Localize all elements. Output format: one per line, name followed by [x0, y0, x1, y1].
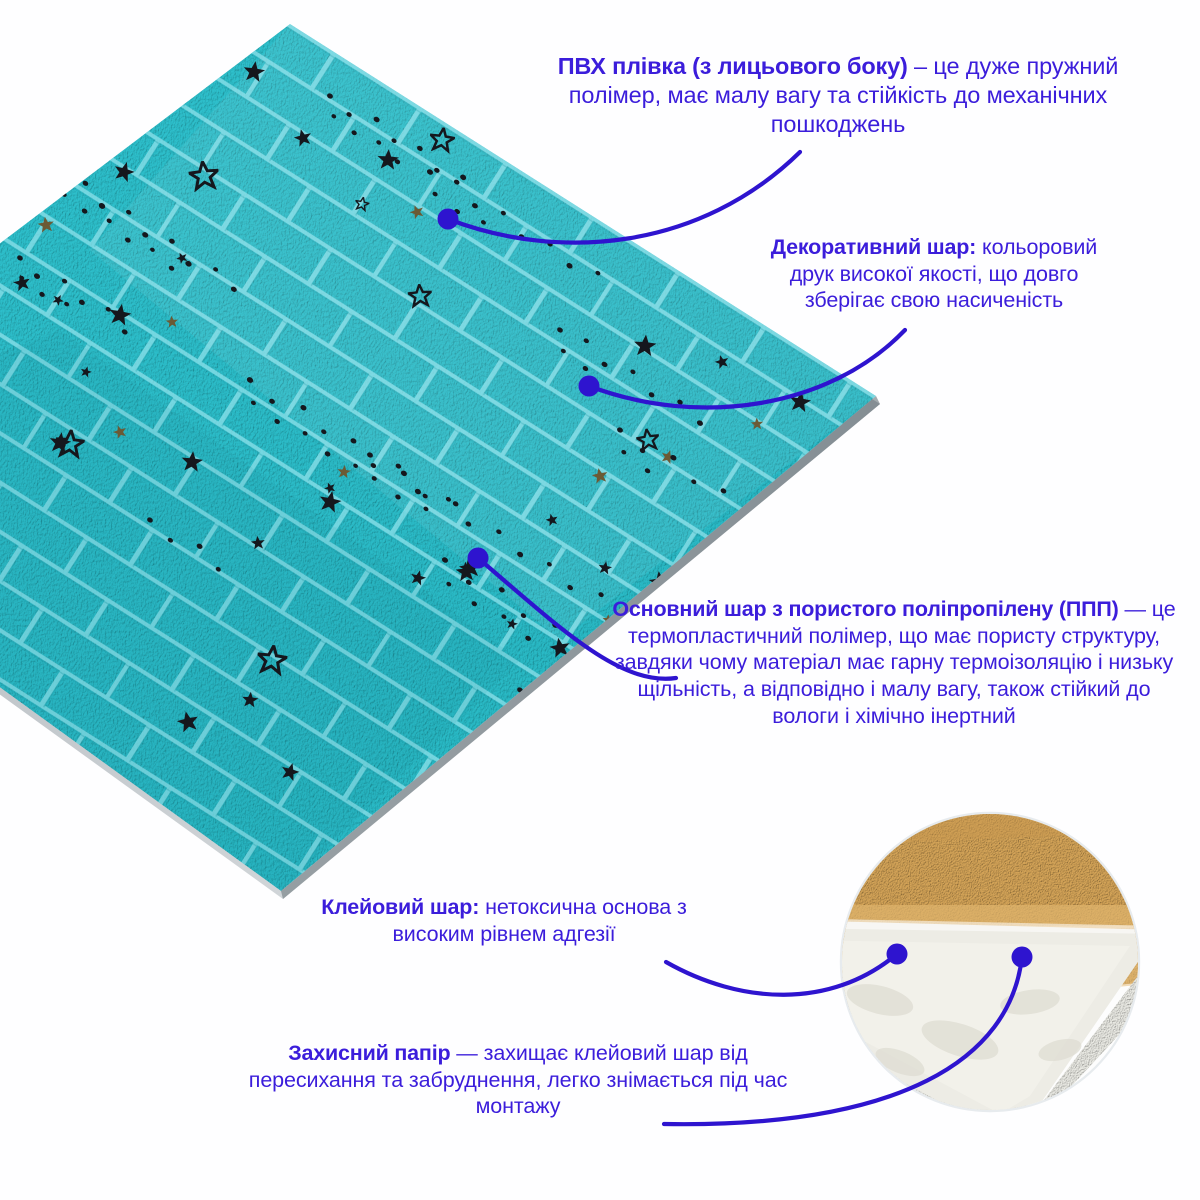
- callout-core-layer: Основний шар з пористого поліпропілену (…: [608, 596, 1180, 729]
- callout-protective-paper-title: Захисний папір: [288, 1041, 450, 1065]
- callout-pvc-film: ПВХ плівка (з лицьового боку) – це дуже …: [556, 52, 1120, 139]
- callout-adhesive-layer: Клейовий шар: нетоксична основа з високи…: [296, 894, 712, 947]
- callout-protective-paper-separator: —: [450, 1041, 483, 1065]
- callout-decorative-layer: Декоративний шар: кольоровий друк високо…: [748, 234, 1120, 314]
- callout-pvc-film-separator: –: [908, 53, 934, 79]
- cross-section-inset: [752, 812, 1170, 1146]
- anchor-dot-pvc-film: [438, 209, 459, 230]
- callout-decorative-layer-title: Декоративний шар:: [771, 235, 976, 259]
- callout-core-layer-separator: —: [1119, 597, 1152, 621]
- callout-core-layer-title: Основний шар з пористого поліпропілену (…: [612, 597, 1118, 621]
- anchor-dot-protective-paper: [1012, 947, 1033, 968]
- infographic-canvas: ПВХ плівка (з лицьового боку) – це дуже …: [0, 0, 1200, 1200]
- anchor-dot-adhesive-layer: [887, 944, 908, 965]
- callout-pvc-film-title: ПВХ плівка (з лицьового боку): [558, 53, 908, 79]
- anchor-dot-core-layer: [468, 548, 489, 569]
- anchor-dot-decorative-layer: [579, 376, 600, 397]
- callout-protective-paper: Захисний папір — захищає клейовий шар ві…: [244, 1040, 792, 1120]
- callout-adhesive-layer-title: Клейовий шар:: [321, 895, 479, 919]
